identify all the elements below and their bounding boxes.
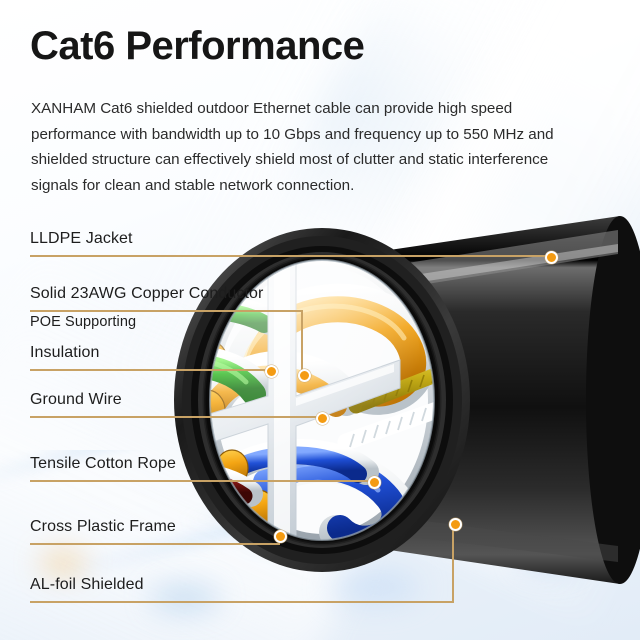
callout-label-al-foil: AL-foil Shielded — [30, 576, 144, 594]
leader-line-copper-conductor-v — [301, 310, 303, 372]
leader-line-ground-wire — [30, 416, 320, 418]
leader-line-al-foil-h — [30, 601, 454, 603]
page-title: Cat6 Performance — [30, 24, 364, 68]
callout-label-ground-wire: Ground Wire — [30, 391, 122, 409]
page-description: XANHAM Cat6 shielded outdoor Ethernet ca… — [31, 96, 576, 198]
callout-label-copper-conductor: Solid 23AWG Copper Conductor — [30, 285, 263, 303]
leader-dot-al-foil — [449, 518, 462, 531]
bokeh-dot — [40, 550, 86, 576]
callout-label-insulation: Insulation — [30, 344, 100, 362]
callout-label-cotton-rope: Tensile Cotton Rope — [30, 455, 176, 473]
leader-dot-copper-conductor — [298, 369, 311, 382]
leader-dot-lldpe-jacket — [545, 251, 558, 264]
product-feature-page: Cat6 Performance XANHAM Cat6 shielded ou… — [0, 0, 640, 640]
leader-dot-insulation — [265, 365, 278, 378]
leader-dot-ground-wire — [316, 412, 329, 425]
leader-line-cotton-rope — [30, 480, 372, 482]
callout-label-lldpe-jacket: LLDPE Jacket — [30, 230, 133, 248]
callout-label-poe-supporting: POE Supporting — [30, 314, 136, 330]
leader-line-insulation — [30, 369, 269, 371]
leader-line-plastic-frame — [30, 543, 280, 545]
leader-line-al-foil-v — [452, 523, 454, 602]
leader-dot-plastic-frame — [274, 530, 287, 543]
leader-line-copper-conductor-h — [30, 310, 302, 312]
callout-label-plastic-frame: Cross Plastic Frame — [30, 518, 176, 536]
leader-dot-cotton-rope — [368, 476, 381, 489]
cable-cross-section-illustration — [150, 210, 640, 610]
leader-line-lldpe-jacket — [30, 255, 549, 257]
